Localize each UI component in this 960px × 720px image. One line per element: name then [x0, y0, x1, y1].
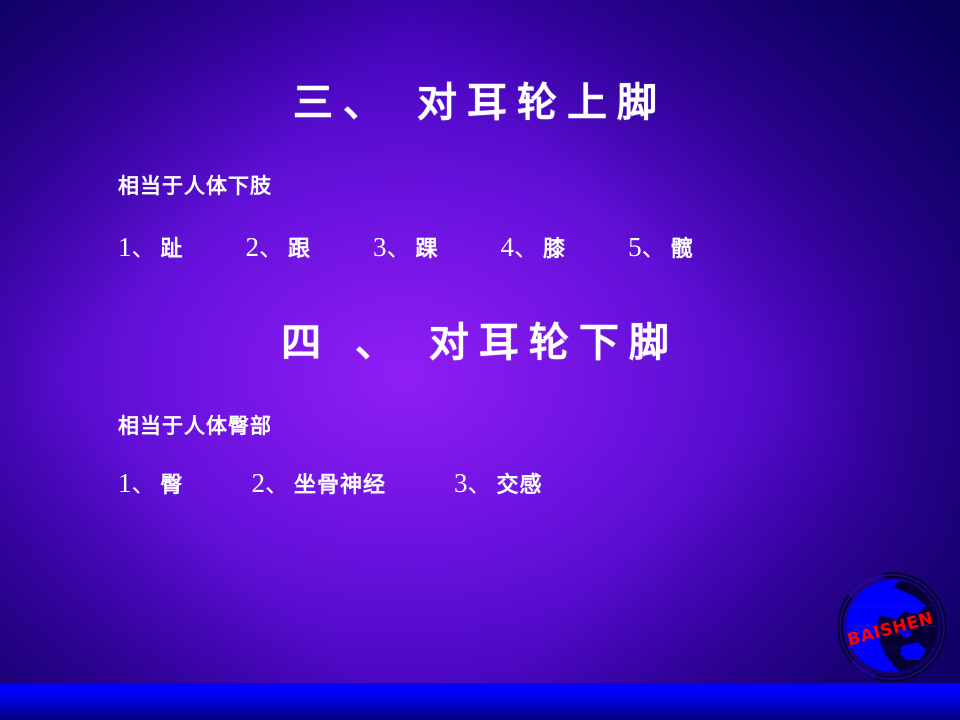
- globe-icon: BAISHEN: [838, 572, 956, 684]
- list-item-label: 交感: [497, 467, 543, 499]
- section-subtitle-1: 相当于人体下肢: [118, 170, 272, 200]
- list-item: 3 、 踝: [373, 228, 439, 263]
- list-item: 1 、 趾: [118, 228, 184, 263]
- list-item-separator: 、: [387, 228, 416, 263]
- list-item-separator: 、: [265, 464, 294, 499]
- list-item-label: 髋: [671, 231, 694, 263]
- section-subtitle-2: 相当于人体臀部: [118, 410, 272, 440]
- slide-canvas: 三、 对耳轮上脚 相当于人体下肢 1 、 趾 2 、 跟 3 、 踝 4 、 膝…: [0, 0, 960, 720]
- list-item-number: 5: [628, 232, 642, 263]
- list-item-label: 臀: [161, 467, 184, 499]
- section-heading-1: 三、 对耳轮上脚: [0, 70, 960, 128]
- list-item-label: 坐骨神经: [294, 467, 386, 499]
- list-item-label: 膝: [543, 231, 566, 263]
- globe-logo: BAISHEN: [838, 572, 956, 684]
- list-item: 4 、 膝: [501, 228, 567, 263]
- list-item-separator: 、: [132, 228, 161, 263]
- bottom-accent-band: [0, 683, 960, 720]
- list-item: 2 、 跟: [246, 228, 312, 263]
- list-item-number: 2: [246, 232, 260, 263]
- section-item-list-2: 1 、 臀 2 、 坐骨神经 3 、 交感: [118, 464, 543, 499]
- list-item-label: 踝: [416, 231, 439, 263]
- list-item-number: 4: [501, 232, 515, 263]
- list-item-separator: 、: [132, 464, 161, 499]
- list-item-number: 3: [454, 468, 468, 499]
- list-item-label: 趾: [161, 231, 184, 263]
- list-item-separator: 、: [514, 228, 543, 263]
- list-item-number: 1: [118, 468, 132, 499]
- list-item-number: 2: [252, 468, 266, 499]
- list-item-number: 3: [373, 232, 387, 263]
- list-item-label: 跟: [288, 231, 311, 263]
- section-item-list-1: 1 、 趾 2 、 跟 3 、 踝 4 、 膝 5 、 髋: [118, 228, 694, 263]
- list-item-separator: 、: [468, 464, 497, 499]
- list-item-separator: 、: [642, 228, 671, 263]
- section-heading-2: 四 、 对耳轮下脚: [0, 310, 960, 368]
- list-item: 3 、 交感: [454, 464, 543, 499]
- list-item: 2 、 坐骨神经: [252, 464, 387, 499]
- list-item-number: 1: [118, 232, 132, 263]
- list-item: 1 、 臀: [118, 464, 184, 499]
- list-item: 5 、 髋: [628, 228, 694, 263]
- list-item-separator: 、: [259, 228, 288, 263]
